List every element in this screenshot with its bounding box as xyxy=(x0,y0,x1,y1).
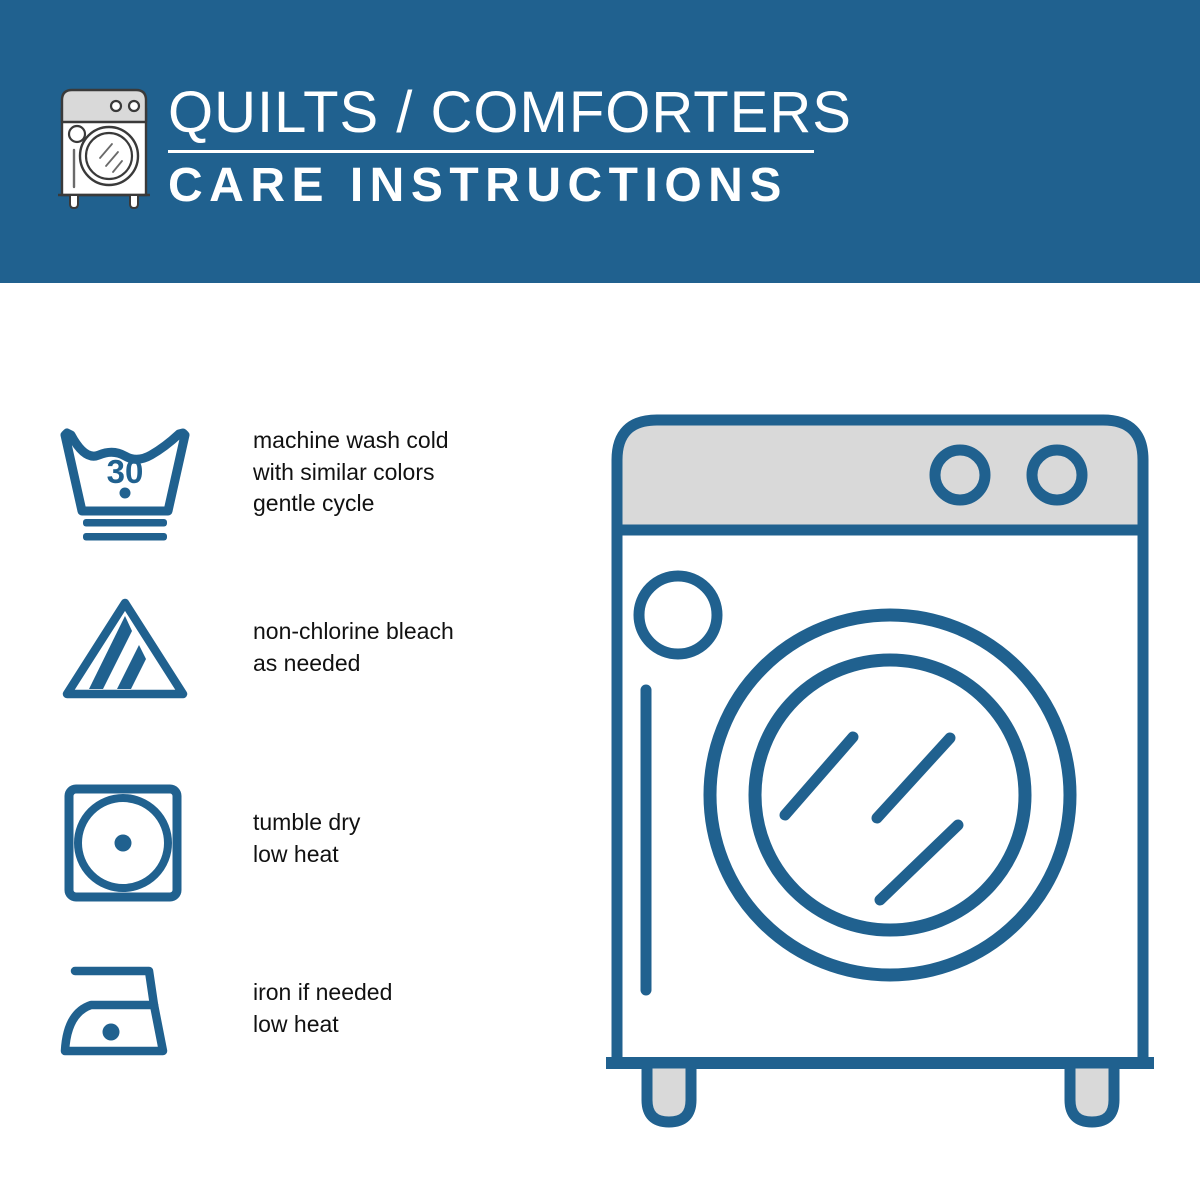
care-row-label: non-chlorine bleach as needed xyxy=(253,616,454,679)
non-chlorine-bleach-triangle-icon xyxy=(55,589,195,714)
title-divider xyxy=(168,150,814,153)
tumble-dry-low-heat-icon xyxy=(55,783,195,908)
care-instruction-list: 30 machine wash cold with similar colors… xyxy=(0,283,540,1200)
control-panel xyxy=(617,420,1143,530)
machine-foot-right xyxy=(1070,1063,1114,1122)
care-row-label: tumble dry low heat xyxy=(253,807,360,870)
front-load-washing-machine-illustration xyxy=(600,400,1160,1130)
washing-machine-icon xyxy=(54,82,154,210)
iron-low-heat-icon xyxy=(55,955,195,1080)
wash-temperature-label: 30 xyxy=(107,453,144,490)
page-header: QUILTS / COMFORTERS CARE INSTRUCTIONS xyxy=(0,0,1200,283)
header-title-block: QUILTS / COMFORTERS CARE INSTRUCTIONS xyxy=(168,82,828,214)
care-row-label: machine wash cold with similar colors ge… xyxy=(253,425,449,520)
machine-foot-left xyxy=(647,1063,691,1122)
page-title: QUILTS / COMFORTERS xyxy=(168,82,828,144)
care-row-label: iron if needed low heat xyxy=(253,977,392,1040)
wash-tub-30-gentle-icon: 30 xyxy=(55,423,195,548)
page-subtitle: CARE INSTRUCTIONS xyxy=(168,158,828,214)
